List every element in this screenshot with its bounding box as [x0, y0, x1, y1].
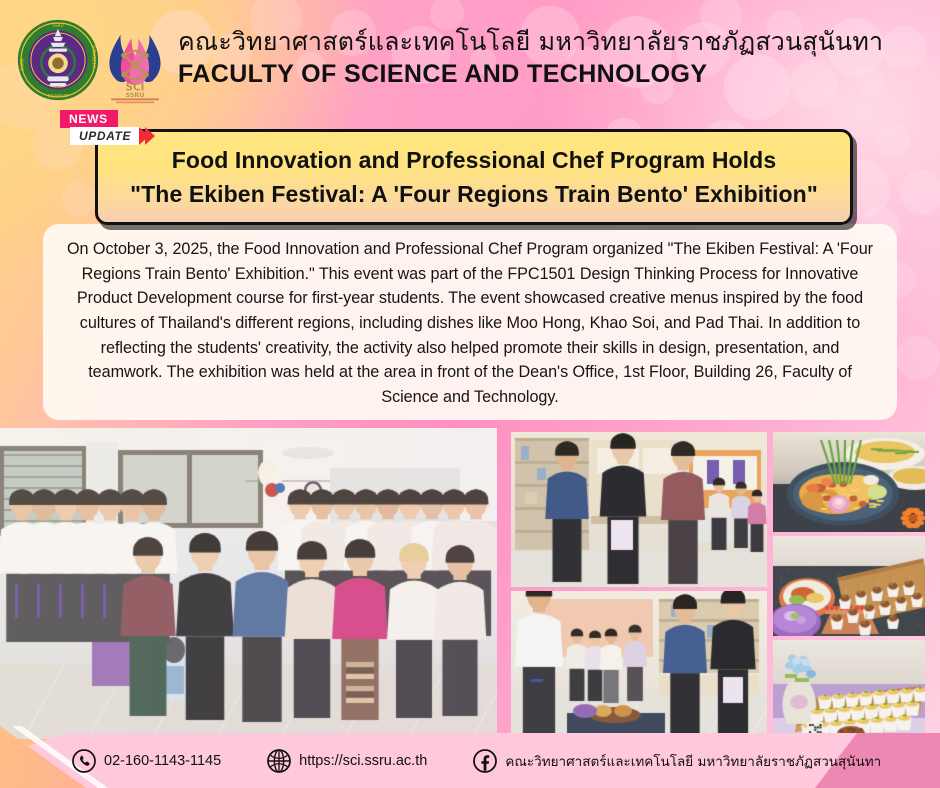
footer-facebook-item[interactable]: คณะวิทยาศาสตร์และเทคโนโลยี มหาวิทยาลัยรา… [473, 749, 881, 773]
svg-text:RAJABHAT: RAJABHAT [48, 94, 69, 99]
news-poster: SSRU RAJABHAT SUAN SUNANDHA SCI SSRU [0, 0, 940, 788]
footer-website-text: https://sci.ssru.ac.th [299, 753, 427, 769]
photo-canape-display [773, 536, 925, 636]
article-body-box: On October 3, 2025, the Food Innovation … [43, 224, 897, 420]
poster-footer: 02-160-1143-1145 https://sci.ssru.ac.th [0, 726, 940, 788]
headline-line-2: "The Ekiben Festival: A 'Four Regions Tr… [130, 180, 818, 209]
photo-student-presenting-booth [511, 591, 767, 739]
footer-phone-text: 02-160-1143-1145 [104, 753, 221, 769]
svg-text:SUNANDHA: SUNANDHA [91, 45, 96, 69]
svg-text:SSRU: SSRU [52, 23, 63, 28]
photo-group-photo-students-and-faculty [0, 428, 497, 739]
news-label: NEWS [60, 110, 118, 128]
article-body-text: On October 3, 2025, the Food Innovation … [65, 237, 875, 409]
header-thai-title: คณะวิทยาศาสตร์และเทคโนโลยี มหาวิทยาลัยรา… [178, 28, 883, 56]
faculty-sci-logo-icon: SCI SSRU [100, 25, 170, 105]
update-row: UPDATE [70, 127, 155, 145]
facebook-icon [473, 749, 497, 773]
svg-text:SUAN: SUAN [20, 59, 25, 71]
footer-phone-item[interactable]: 02-160-1143-1145 [72, 749, 221, 773]
globe-icon [267, 749, 291, 773]
poster-header: SSRU RAJABHAT SUAN SUNANDHA SCI SSRU [0, 0, 940, 118]
photo-dessert-cups-table [773, 640, 925, 739]
update-label: UPDATE [70, 127, 140, 145]
header-titles: คณะวิทยาศาสตร์และเทคโนโลยี มหาวิทยาลัยรา… [178, 28, 883, 89]
photo-pad-thai-platter [773, 432, 925, 532]
headline-line-1: Food Innovation and Professional Chef Pr… [172, 146, 776, 175]
footer-facebook-text: คณะวิทยาศาสตร์และเทคโนโลยี มหาวิทยาลัยรา… [505, 750, 881, 772]
chevron-right-icon-2 [145, 127, 155, 145]
phone-icon [72, 749, 96, 773]
news-update-badge: NEWS UPDATE [60, 110, 155, 145]
headline-box: Food Innovation and Professional Chef Pr… [95, 129, 853, 225]
footer-website-item[interactable]: https://sci.ssru.ac.th [267, 749, 427, 773]
photo-dean-touring-exhibition [511, 432, 767, 587]
footer-contact-list: 02-160-1143-1145 https://sci.ssru.ac.th [0, 733, 940, 788]
svg-text:SSRU: SSRU [126, 92, 145, 99]
photo-collage [0, 428, 940, 739]
university-seal-icon: SSRU RAJABHAT SUAN SUNANDHA [17, 19, 99, 101]
header-english-title: FACULTY OF SCIENCE AND TECHNOLOGY [178, 60, 883, 89]
